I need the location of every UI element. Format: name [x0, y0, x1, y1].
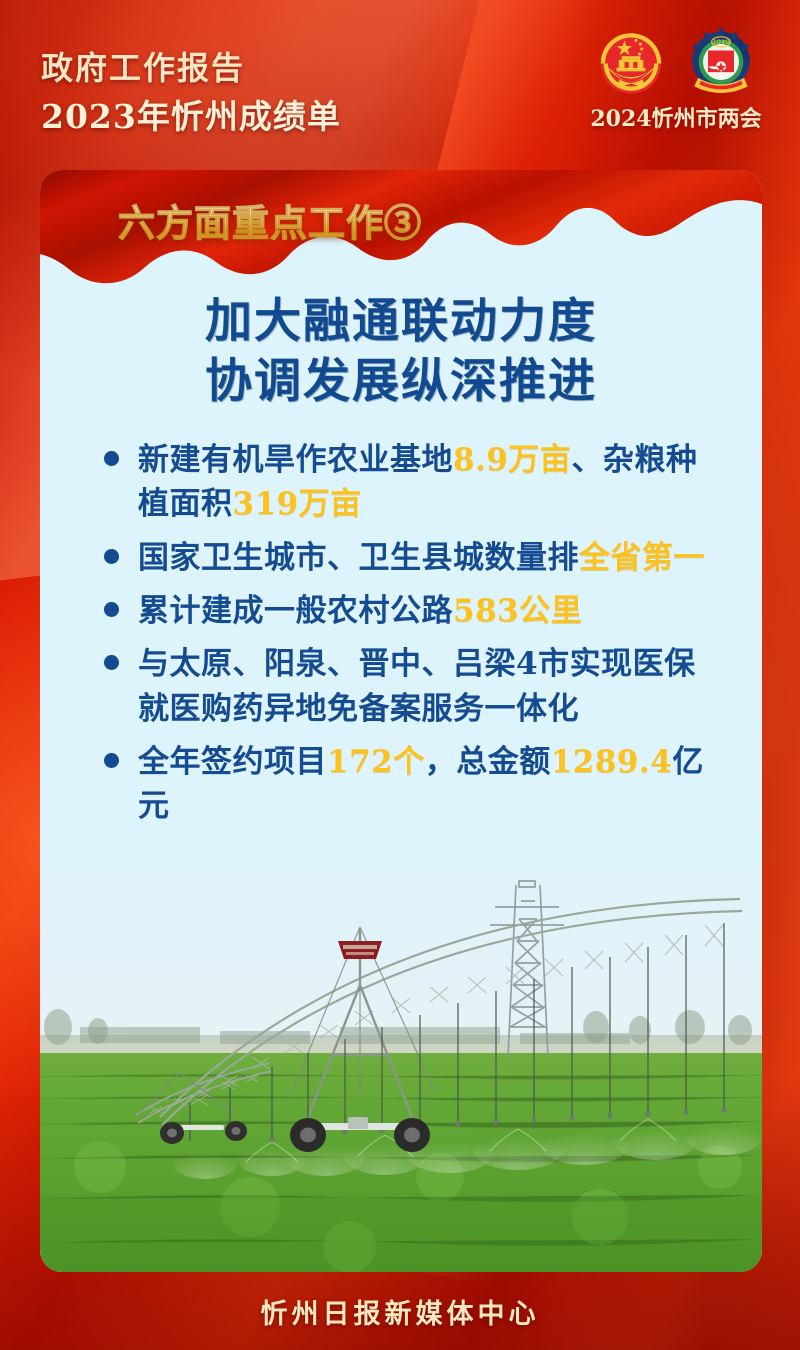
bullet-highlight-value: 全省第一	[579, 540, 705, 576]
bullet-plain-text: ，总金额	[425, 744, 551, 780]
bullet-highlight-value: 172个	[327, 744, 425, 780]
content-card: 六方面重点工作③ 加大融通联动力度 协调发展纵深推进 新建有机旱作农业基地8.9…	[40, 170, 762, 1272]
bullet-plain-text: 与太原、阳泉、晋中、吕梁4市实现医保就医购药异地免备案服务一体化	[138, 646, 696, 726]
bullet-text: 新建有机旱作农业基地8.9万亩、杂粮种植面积319万亩	[138, 438, 718, 527]
bullet-plain-text: 全年签约项目	[138, 744, 327, 780]
bullet-dot-icon	[104, 549, 119, 564]
footer-credit: 忻州日报新媒体中心	[0, 1292, 800, 1331]
svg-text:1949: 1949	[713, 38, 729, 46]
irrigation-photo	[40, 867, 762, 1272]
bullet-highlight-value: 1289.4	[551, 744, 673, 780]
bullet-dot-icon	[104, 655, 119, 670]
bullet-dot-icon	[104, 451, 119, 466]
emblem-group: 1949 2024忻州市两会	[576, 26, 776, 133]
bullet-signed-projects: 全年签约项目172个，总金额1289.4亿元	[98, 740, 718, 829]
cppcc-emblem-icon: 1949	[685, 26, 757, 98]
bullet-medical-insurance: 与太原、阳泉、晋中、吕梁4市实现医保就医购药异地免备案服务一体化	[98, 642, 718, 731]
bullet-organic-dry-farming: 新建有机旱作农业基地8.9万亩、杂粮种植面积319万亩	[98, 438, 718, 527]
poster-header: 政府工作报告 2023年忻州成绩单	[0, 0, 800, 170]
bullet-list: 新建有机旱作农业基地8.9万亩、杂粮种植面积319万亩国家卫生城市、卫生县城数量…	[98, 438, 718, 838]
main-heading-line-2: 协调发展纵深推进	[40, 352, 762, 412]
bullet-highlight-value: 583公里	[453, 593, 582, 629]
main-heading: 加大融通联动力度 协调发展纵深推进	[40, 292, 762, 412]
bullet-plain-text: 国家卫生城市、卫生县城数量排	[138, 540, 579, 576]
bullet-highlight-value: 319万亩	[233, 486, 362, 522]
bullet-text: 全年签约项目172个，总金额1289.4亿元	[138, 740, 718, 829]
report-subtitle: 2023年忻州成绩单	[41, 100, 341, 135]
bullet-dot-icon	[104, 753, 119, 768]
bullet-text: 国家卫生城市、卫生县城数量排全省第一	[138, 536, 718, 580]
bullet-text: 累计建成一般农村公路583公里	[138, 589, 718, 633]
bullet-rural-roads: 累计建成一般农村公路583公里	[98, 589, 718, 633]
bullet-plain-text: 累计建成一般农村公路	[138, 593, 453, 629]
section-badge: 六方面重点工作③	[118, 193, 422, 247]
liang-hui-label: 2024忻州市两会	[576, 101, 776, 133]
national-emblem-of-china-icon	[595, 26, 667, 98]
bullet-dot-icon	[104, 602, 119, 617]
bullet-national-health-city: 国家卫生城市、卫生县城数量排全省第一	[98, 536, 718, 580]
report-title: 政府工作报告	[41, 52, 245, 86]
bullet-text: 与太原、阳泉、晋中、吕梁4市实现医保就医购药异地免备案服务一体化	[138, 642, 718, 731]
bullet-highlight-value: 8.9万亩	[453, 442, 571, 478]
bullet-plain-text: 新建有机旱作农业基地	[138, 442, 453, 478]
main-heading-line-1: 加大融通联动力度	[40, 292, 762, 352]
